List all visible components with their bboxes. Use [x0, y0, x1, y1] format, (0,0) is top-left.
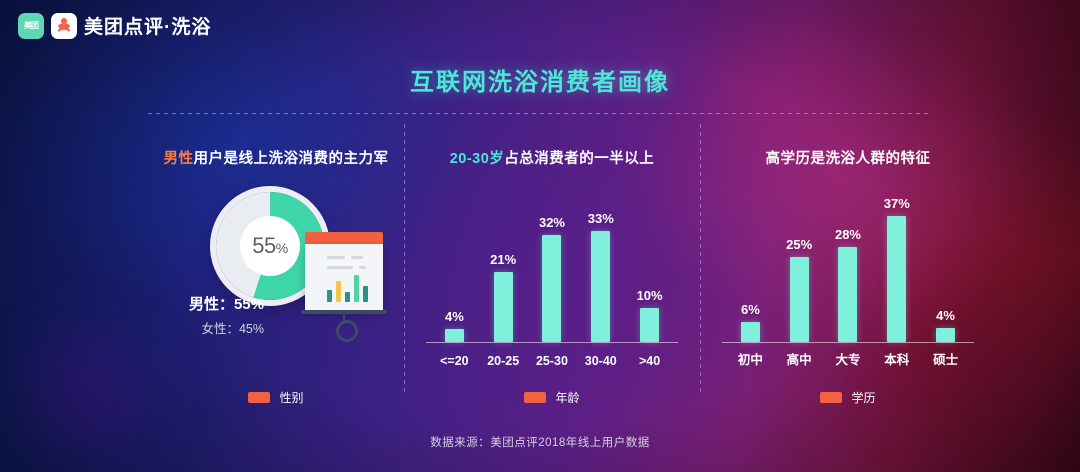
background-blob [30, 330, 150, 450]
bar [936, 328, 955, 342]
brand-header: 美团 美团点评·洗浴 [18, 12, 211, 39]
bar-value-label: 25% [786, 237, 812, 252]
bar-value-label: 4% [445, 309, 464, 324]
board-mini-bar [327, 290, 332, 302]
page-title: 互联网洗浴消费者画像 [0, 62, 1080, 97]
bar-column: 10% [629, 186, 670, 342]
board-sheet [305, 244, 383, 310]
panel-age: 20-30岁占总消费者的一半以上 4%21%32%33%10% <=2020-2… [404, 124, 700, 414]
legend-swatch-icon [524, 392, 546, 403]
mascot-body [57, 23, 71, 33]
age-bar-chart: 4%21%32%33%10% <=2020-2525-3030-40>40 [404, 186, 700, 386]
age-x-axis-labels: <=2020-2525-3030-40>40 [430, 354, 674, 368]
education-axis-line [722, 342, 974, 343]
bar-value-label: 10% [637, 288, 663, 303]
x-axis-label: 25-30 [531, 354, 572, 368]
panel-gender-title-highlight: 男性 [164, 151, 194, 167]
bar-column: 6% [730, 186, 771, 342]
horizontal-divider [148, 113, 932, 114]
donut-center: 55% [240, 216, 300, 276]
x-axis-label: 20-25 [482, 354, 523, 368]
panel-age-title: 20-30岁占总消费者的一半以上 [404, 147, 700, 168]
bar-column: 21% [482, 186, 523, 342]
board-text-line [327, 266, 353, 269]
panel-age-title-highlight: 20-30岁 [450, 151, 505, 167]
bar-column: 37% [876, 186, 917, 342]
legend-age-label: 年龄 [555, 389, 579, 406]
bar [542, 235, 561, 342]
legend-age: 年龄 [404, 389, 700, 406]
legend-education: 学历 [700, 389, 996, 406]
bar-value-label: 32% [539, 215, 565, 230]
education-x-axis-labels: 初中高中大专本科硕士 [726, 349, 970, 368]
x-axis-label: 本科 [876, 349, 917, 368]
legend-swatch-icon [248, 392, 270, 403]
board-mini-bar [363, 286, 368, 302]
bar [591, 231, 610, 342]
board-top-bar [305, 232, 383, 244]
female-share-label: 女性：45% [168, 318, 264, 337]
panel-gender-title: 男性用户是线上洗浴消费的主力军 [148, 147, 404, 168]
x-axis-label: >40 [629, 354, 670, 368]
panel-age-title-rest: 占总消费者的一半以上 [504, 151, 654, 167]
bar-column: 28% [827, 186, 868, 342]
age-axis-line [426, 342, 678, 343]
bar-column: 4% [925, 186, 966, 342]
donut-center-number: 55 [252, 233, 275, 258]
donut-center-value: 55% [252, 233, 287, 259]
data-source-note: 数据来源：美团点评2018年线上用户数据 [0, 434, 1080, 450]
legend-swatch-icon [820, 392, 842, 403]
donut-center-unit: % [276, 240, 288, 256]
x-axis-label: 初中 [730, 349, 771, 368]
dianping-mascot-icon [51, 13, 77, 39]
age-bar-plot: 4%21%32%33%10% [430, 186, 674, 342]
education-bar-chart: 6%25%28%37%4% 初中高中大专本科硕士 [700, 186, 996, 386]
board-text-line [351, 256, 363, 259]
board-mini-bar [336, 281, 341, 302]
bar-column: 25% [778, 186, 819, 342]
mascot-glyph [56, 18, 72, 34]
brand-title: 美团点评·洗浴 [84, 12, 211, 39]
x-axis-label: 30-40 [580, 354, 621, 368]
panel-education: 高学历是洗浴人群的特征 6%25%28%37%4% 初中高中大专本科硕士 学历 [700, 124, 996, 414]
x-axis-label: 高中 [778, 349, 819, 368]
x-axis-label: <=20 [434, 354, 475, 368]
legend-gender: 性别 [148, 389, 404, 406]
bar-column: 32% [531, 186, 572, 342]
mascot-head [61, 18, 67, 24]
bar [790, 257, 809, 342]
bar-value-label: 6% [741, 302, 760, 317]
board-foot [336, 320, 358, 342]
bar [887, 216, 906, 342]
bar [741, 322, 760, 342]
gender-stats: 男性：55% 女性：45% [168, 293, 264, 337]
board-mini-bar [345, 292, 350, 302]
x-axis-label: 硕士 [925, 349, 966, 368]
bar-column: 33% [580, 186, 621, 342]
panel-education-title: 高学历是洗浴人群的特征 [700, 147, 996, 168]
meituan-logo-icon: 美团 [18, 13, 44, 39]
presentation-board-illustration [305, 232, 383, 324]
bar-column: 4% [434, 186, 475, 342]
panel-gender-title-rest: 用户是线上洗浴消费的主力军 [194, 151, 389, 167]
education-bar-plot: 6%25%28%37%4% [726, 186, 970, 342]
bar [838, 247, 857, 342]
x-axis-label: 大专 [827, 349, 868, 368]
bar-value-label: 37% [884, 196, 910, 211]
meituan-logo-text: 美团 [24, 20, 38, 31]
bar-value-label: 33% [588, 211, 614, 226]
legend-education-label: 学历 [851, 389, 875, 406]
male-share-label: 男性：55% [168, 293, 264, 314]
bar [640, 308, 659, 342]
bar-value-label: 4% [936, 308, 955, 323]
bar-value-label: 21% [490, 252, 516, 267]
infographic-canvas: 美团 美团点评·洗浴 互联网洗浴消费者画像 男性用户是线上洗浴消费的主力军 性别… [0, 0, 1080, 472]
bar [494, 272, 513, 342]
board-text-line [327, 256, 345, 259]
bar [445, 329, 464, 342]
bar-value-label: 28% [835, 227, 861, 242]
board-text-line [359, 266, 366, 269]
legend-gender-label: 性别 [279, 389, 303, 406]
board-mini-bar [354, 275, 359, 302]
